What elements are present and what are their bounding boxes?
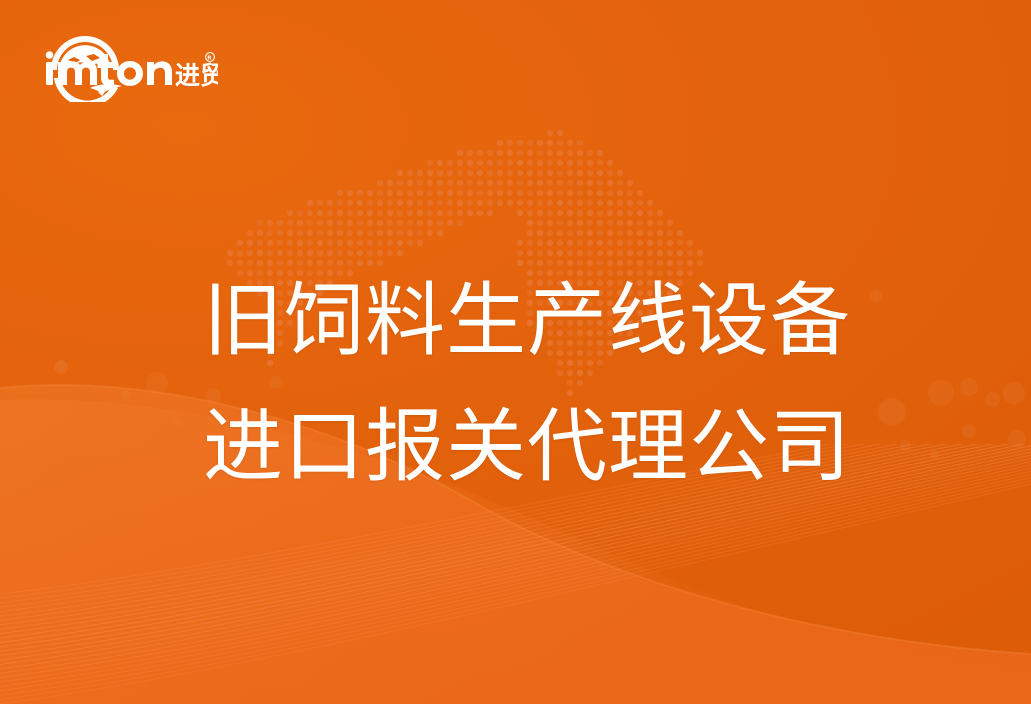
promo-banner: 进贸通 R 旧饲料生产线设备 进口报关代理公司 (0, 0, 1031, 704)
svg-text:R: R (207, 56, 212, 62)
brand-logo[interactable]: 进贸通 R (38, 30, 218, 102)
page-title: 旧饲料生产线设备 进口报关代理公司 (203, 258, 903, 510)
title-line-1: 旧饲料生产线设备 (203, 258, 903, 384)
logo-chinese-name: 进贸通 (175, 61, 218, 90)
title-line-2: 进口报关代理公司 (203, 384, 903, 510)
